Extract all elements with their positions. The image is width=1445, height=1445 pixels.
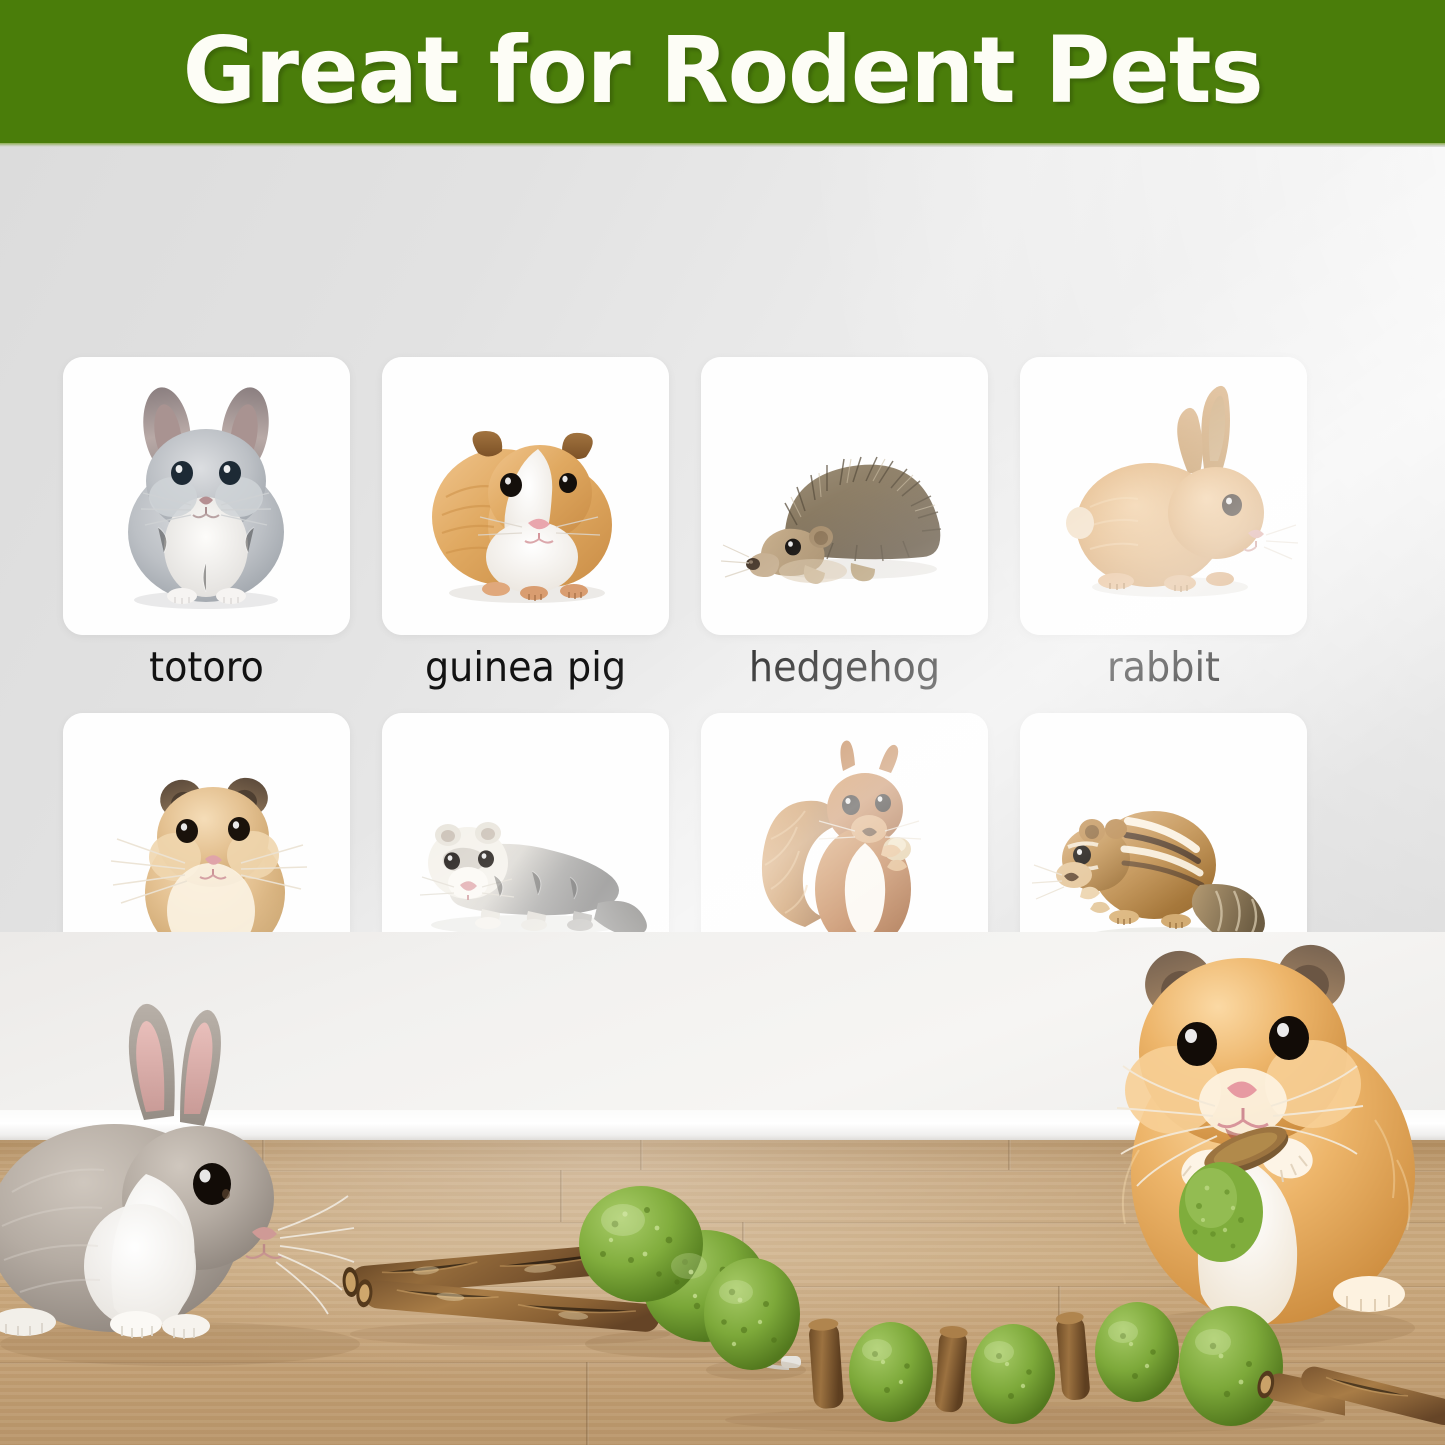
pet-card-caption-guinea-pig: guinea pig [392, 647, 659, 688]
product-lifestyle-scene [0, 932, 1445, 1445]
pet-card-rabbit[interactable] [1020, 357, 1307, 635]
pet-card-caption-hedgehog: hedgehog [711, 647, 978, 688]
pet-card-caption-rabbit: rabbit [1030, 647, 1297, 688]
rabbit-photo [1020, 357, 1307, 635]
treat-ball-single [700, 1252, 820, 1382]
pet-card-hedgehog[interactable] [701, 357, 988, 635]
held-treat-ball [1179, 1162, 1263, 1262]
pet-card-totoro[interactable] [63, 357, 350, 635]
pet-card-guinea-pig[interactable] [382, 357, 669, 635]
chew-stick-right [1300, 1360, 1445, 1430]
header-banner: Great for Rodent Pets [0, 0, 1445, 147]
hedgehog-photo [701, 357, 988, 635]
guinea-pig-photo [382, 357, 669, 635]
pet-card-caption-totoro: totoro [73, 647, 340, 688]
page-title: Great for Rodent Pets [183, 25, 1263, 123]
pet-gallery: totoro [0, 147, 1445, 932]
chinchilla-photo [63, 357, 350, 635]
